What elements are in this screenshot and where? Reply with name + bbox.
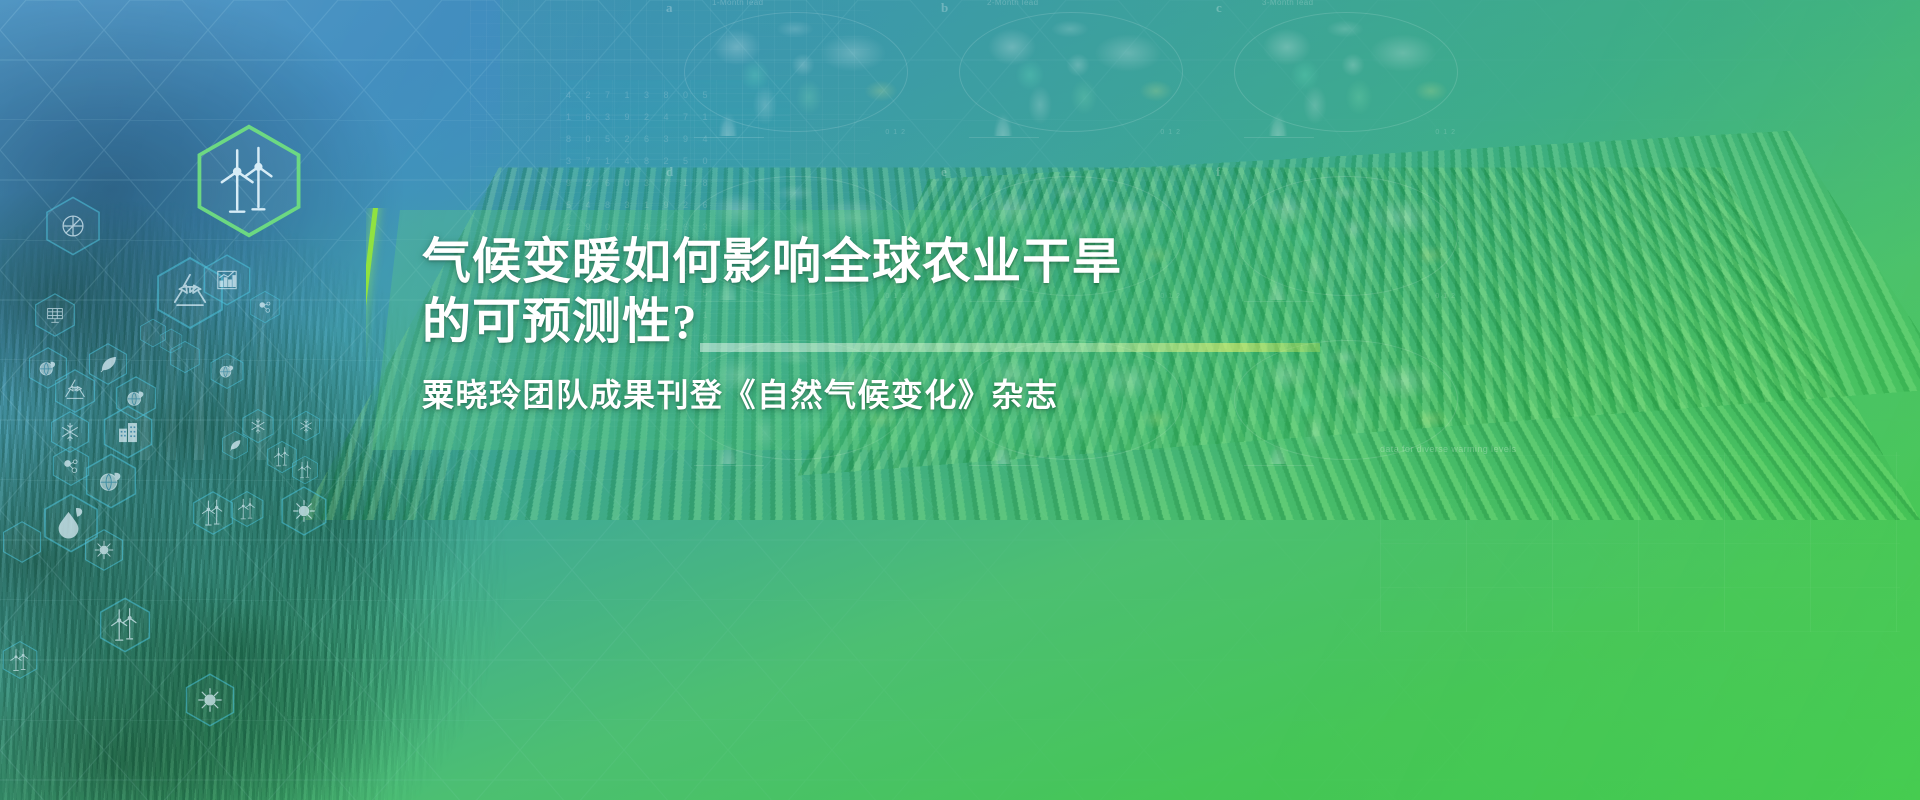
climate-news-banner: 4 2 7 1 3 8 0 5 1 6 3 9 2 4 7 1 8 0 5 2 … <box>0 0 1920 800</box>
light-sheen <box>0 0 1920 800</box>
